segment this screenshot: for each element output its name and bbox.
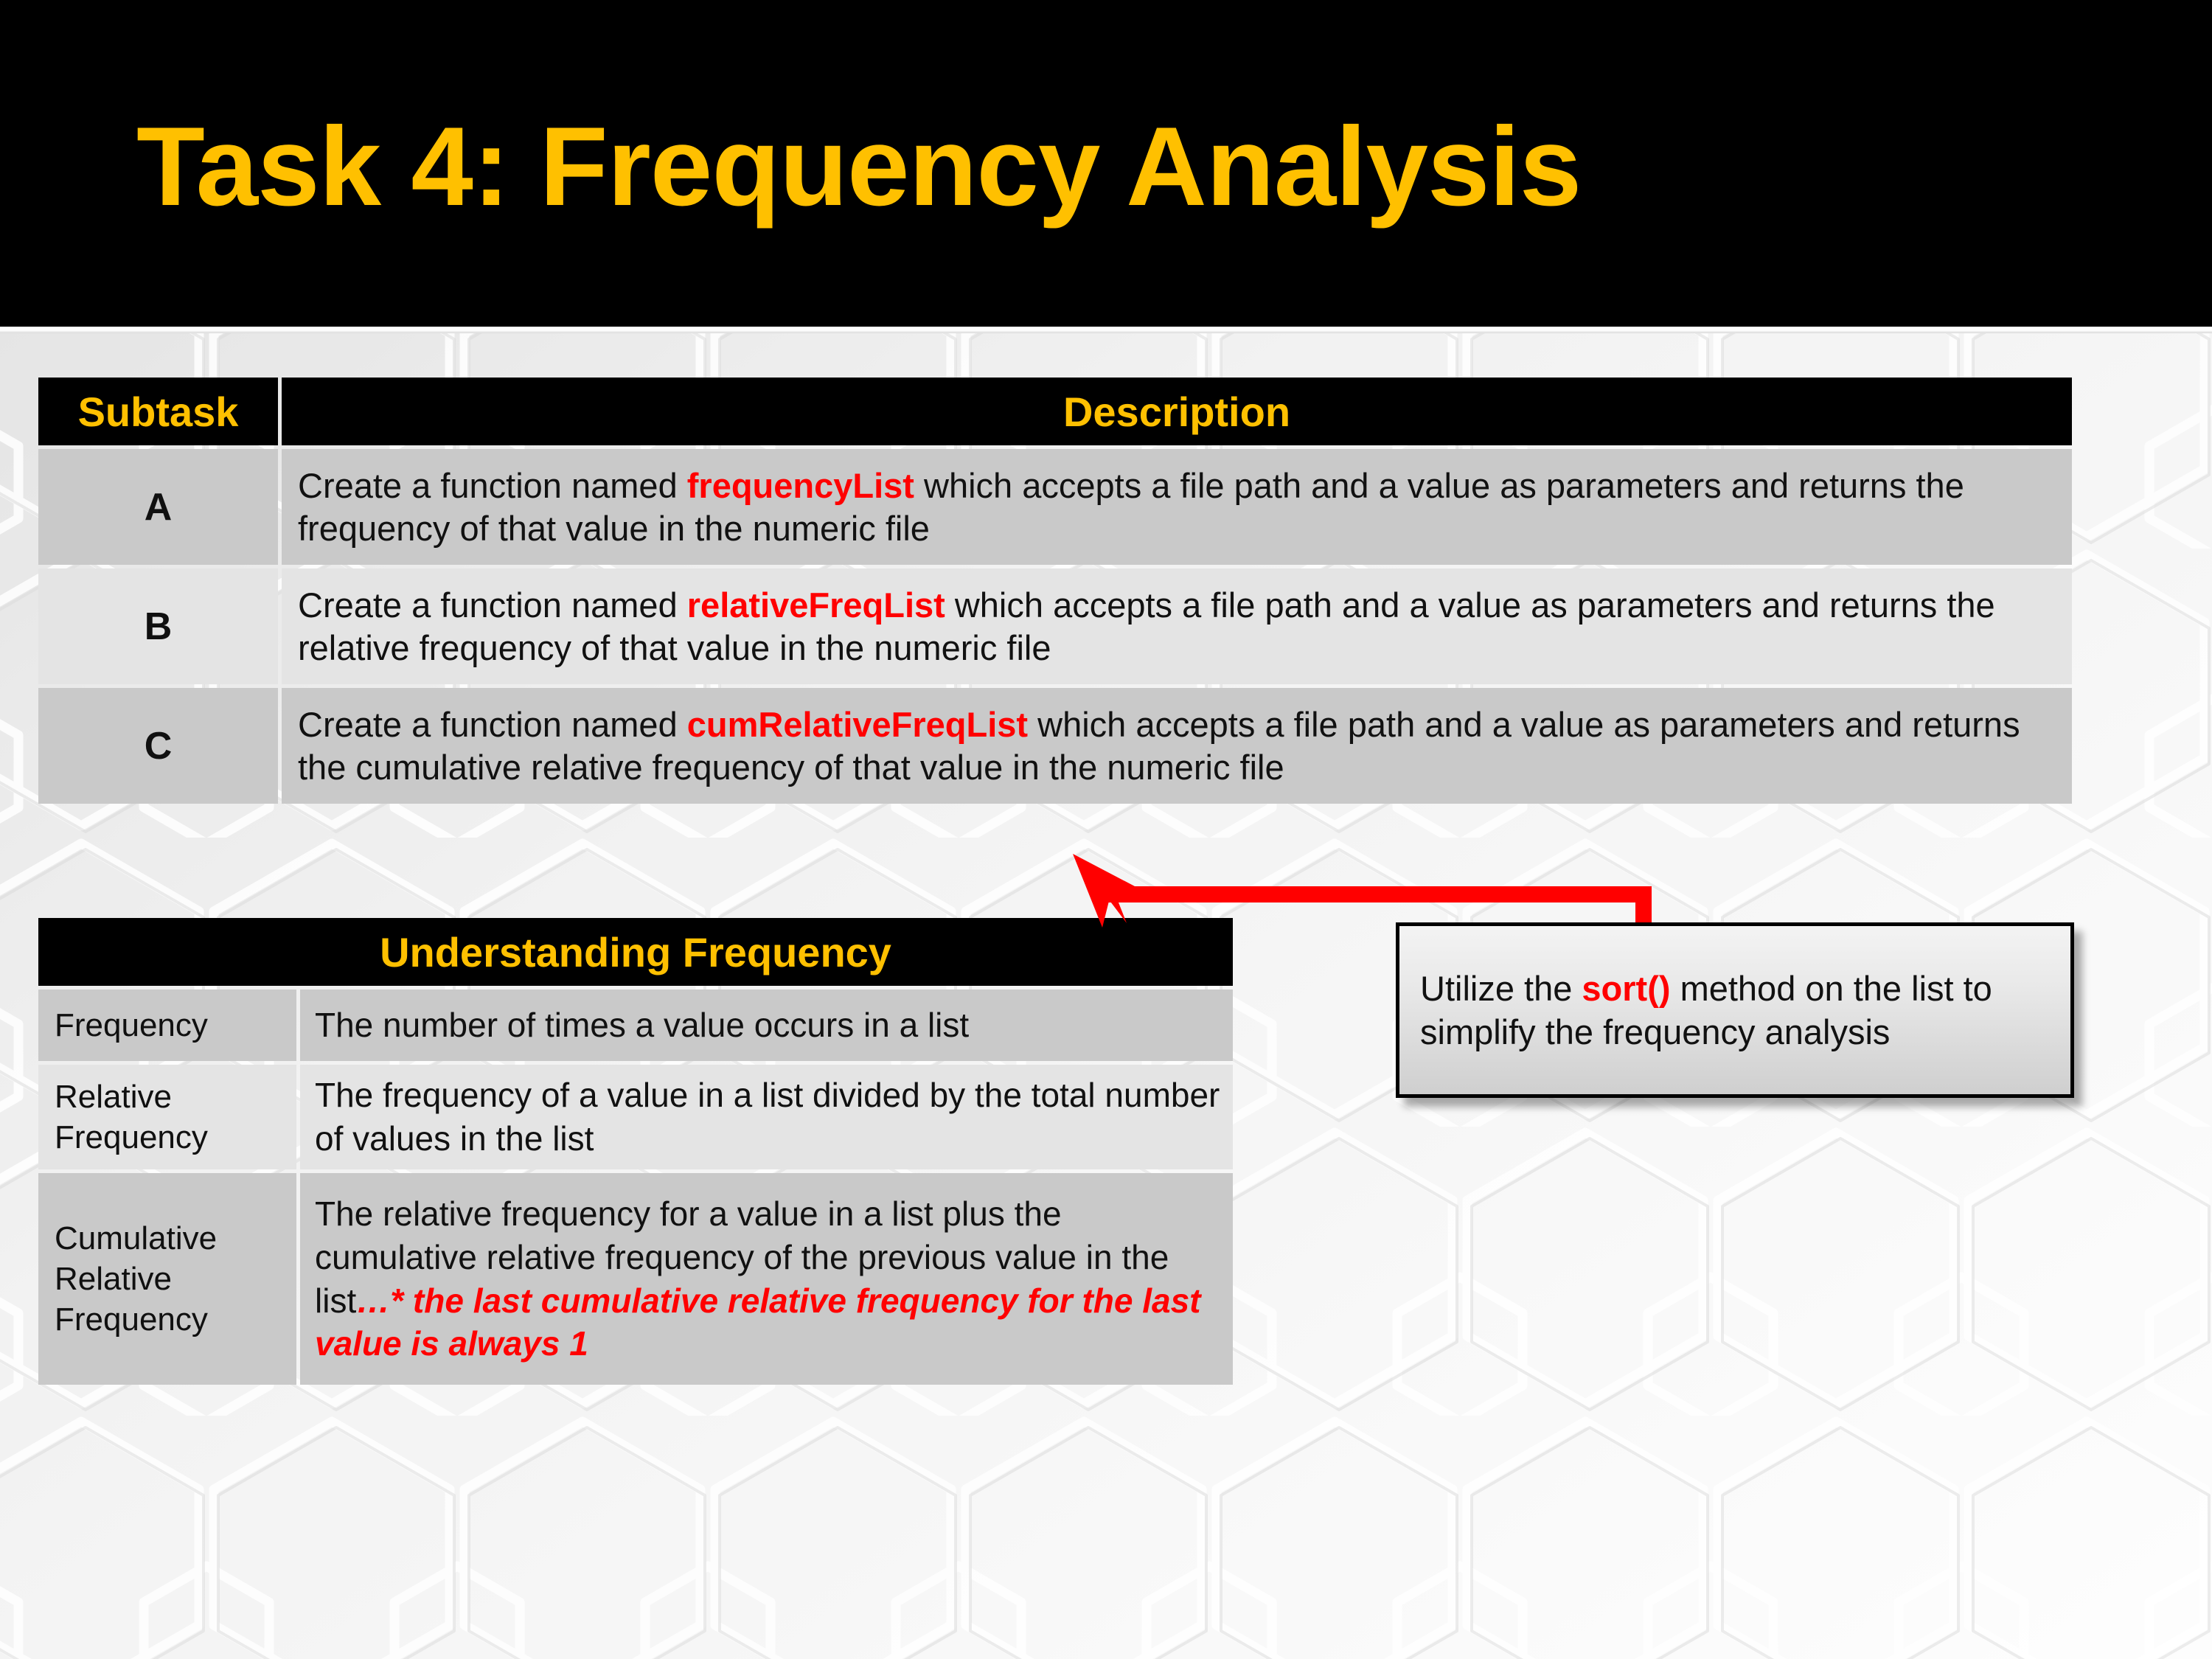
table-row: Frequency The number of times a value oc… (38, 990, 1233, 1061)
understanding-frequency-table: Understanding Frequency Frequency The nu… (38, 918, 1233, 1385)
definition-frequency: The number of times a value occurs in a … (300, 990, 1233, 1061)
table-row: Relative Frequency The frequency of a va… (38, 1065, 1233, 1169)
page-title: Task 4: Frequency Analysis (136, 111, 1581, 223)
title-band-bottom-edge (0, 327, 2212, 333)
table-row: B Create a function named relativeFreqLi… (38, 568, 2072, 684)
desc-text-pre: Create a function named (298, 585, 687, 625)
definition-emphasis-note: …* the last cumulative relative frequenc… (315, 1281, 1201, 1363)
method-name-sort: sort() (1582, 969, 1670, 1008)
callout-box: Utilize the sort() method on the list to… (1396, 922, 2074, 1098)
callout-text-pre: Utilize the (1420, 969, 1582, 1008)
subtask-letter-b: B (38, 568, 278, 684)
column-header-description: Description (282, 378, 2072, 445)
callout-text: Utilize the sort() method on the list to… (1399, 967, 2070, 1054)
function-name-frequencylist: frequencyList (687, 466, 914, 505)
table-row: C Create a function named cumRelativeFre… (38, 688, 2072, 804)
term-cumulative-relative-frequency: Cumulative Relative Frequency (38, 1173, 296, 1385)
desc-text-pre: Create a function named (298, 705, 687, 744)
subtask-letter-c: C (38, 688, 278, 804)
desc-text-pre: Create a function named (298, 466, 687, 505)
table-row: Cumulative Relative Frequency The relati… (38, 1173, 1233, 1385)
subtask-description-c: Create a function named cumRelativeFreqL… (282, 688, 2072, 804)
function-name-relativefreqlist: relativeFreqList (687, 585, 945, 625)
subtask-description-a: Create a function named frequencyList wh… (282, 449, 2072, 565)
table-row: A Create a function named frequencyList … (38, 449, 2072, 565)
term-relative-frequency: Relative Frequency (38, 1065, 296, 1169)
subtask-table: Subtask Description A Create a function … (38, 378, 2072, 804)
term-frequency: Frequency (38, 990, 296, 1061)
definition-cumulative-relative-frequency: The relative frequency for a value in a … (300, 1173, 1233, 1385)
column-header-subtask: Subtask (38, 378, 278, 445)
subtask-letter-a: A (38, 449, 278, 565)
table-header-row: Subtask Description (38, 378, 2072, 445)
slide-canvas: Task 4: Frequency Analysis Subtask Descr… (0, 0, 2212, 1659)
subtask-description-b: Create a function named relativeFreqList… (282, 568, 2072, 684)
function-name-cumrelativefreqlist: cumRelativeFreqList (687, 705, 1028, 744)
definition-relative-frequency: The frequency of a value in a list divid… (300, 1065, 1233, 1169)
